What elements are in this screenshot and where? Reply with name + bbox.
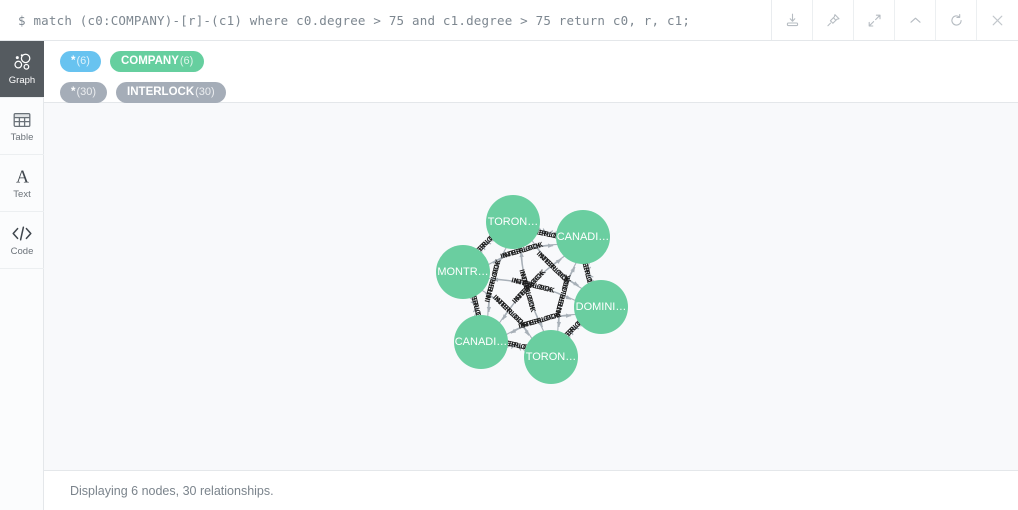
legend-chip-count: (6)	[180, 55, 193, 67]
pin-icon	[825, 12, 842, 29]
pin-button[interactable]	[813, 0, 854, 40]
graph-node[interactable]: CANADI…	[454, 315, 508, 369]
legend-chip-company[interactable]: COMPANY(6)	[110, 51, 204, 72]
result-frame: $ match (c0:COMPANY)-[r]-(c1) where c0.d…	[0, 0, 1018, 510]
download-button[interactable]	[772, 0, 813, 40]
legend-chip-count: (6)	[76, 55, 89, 67]
query-input[interactable]: $ match (c0:COMPANY)-[r]-(c1) where c0.d…	[0, 0, 772, 40]
graph-node-circle[interactable]	[436, 245, 490, 299]
legend-chip-count: (30)	[76, 86, 96, 98]
expand-icon	[866, 12, 883, 29]
chevron-up-icon	[907, 12, 924, 29]
legend-row-relationships: *(30) INTERLOCK(30)	[60, 80, 1018, 105]
sidebar-item-table[interactable]: Table	[0, 98, 44, 155]
graph-svg: INTERLOCKINTERLOCKINTERLOCKINTERLOCKINTE…	[44, 103, 1018, 471]
sidebar-item-code[interactable]: Code	[0, 212, 44, 269]
sidebar-item-label: Table	[11, 133, 34, 143]
graph-icon	[12, 52, 33, 73]
code-icon	[11, 223, 33, 244]
graph-node[interactable]: CANADI…	[556, 210, 610, 264]
graph-node[interactable]: DOMINI…	[574, 280, 628, 334]
text-icon: A	[12, 166, 33, 187]
sidebar-item-label: Code	[11, 247, 34, 257]
legend-chip-label: *	[71, 86, 75, 99]
legend-chip-count: (30)	[195, 86, 215, 98]
download-icon	[784, 12, 801, 29]
graph-node-circle[interactable]	[454, 315, 508, 369]
legend-chip-interlock[interactable]: INTERLOCK(30)	[116, 82, 226, 103]
legend-chip-any-node[interactable]: *(6)	[60, 51, 101, 72]
sidebar-item-graph[interactable]: Graph	[0, 41, 44, 98]
legend-chip-label: COMPANY	[121, 55, 179, 68]
graph-node[interactable]: TORON…	[486, 195, 540, 249]
graph-node[interactable]: MONTR…	[436, 245, 490, 299]
legend-chip-label: INTERLOCK	[127, 86, 194, 99]
graph-node-circle[interactable]	[486, 195, 540, 249]
sidebar-item-text[interactable]: A Text	[0, 155, 44, 212]
refresh-button[interactable]	[936, 0, 977, 40]
sidebar-item-label: Graph	[9, 76, 35, 86]
query-bar: $ match (c0:COMPANY)-[r]-(c1) where c0.d…	[0, 0, 1018, 41]
legend-row-nodes: *(6) COMPANY(6)	[60, 49, 1018, 74]
toolbar	[772, 0, 1018, 40]
graph-canvas[interactable]: INTERLOCKINTERLOCKINTERLOCKINTERLOCKINTE…	[44, 103, 1018, 471]
status-bar: Displaying 6 nodes, 30 relationships.	[44, 471, 1018, 510]
collapse-button[interactable]	[895, 0, 936, 40]
graph-node-circle[interactable]	[556, 210, 610, 264]
legend-chip-label: *	[71, 55, 75, 68]
sidebar-item-label: Text	[13, 190, 30, 200]
close-button[interactable]	[977, 0, 1018, 40]
graph-node-circle[interactable]	[574, 280, 628, 334]
close-icon	[989, 12, 1006, 29]
table-icon	[12, 110, 32, 130]
status-text: Displaying 6 nodes, 30 relationships.	[70, 484, 274, 498]
graph-node-circle[interactable]	[524, 330, 578, 384]
expand-button[interactable]	[854, 0, 895, 40]
refresh-icon	[948, 12, 965, 29]
view-sidebar: Graph Table A Text	[0, 41, 44, 510]
graph-node[interactable]: TORON…	[524, 330, 578, 384]
legend-bar: *(6) COMPANY(6) *(30) INTERLOCK(30)	[44, 41, 1018, 103]
legend-chip-any-relationship[interactable]: *(30)	[60, 82, 107, 103]
query-text: $ match (c0:COMPANY)-[r]-(c1) where c0.d…	[18, 13, 690, 28]
svg-text:A: A	[16, 167, 29, 187]
